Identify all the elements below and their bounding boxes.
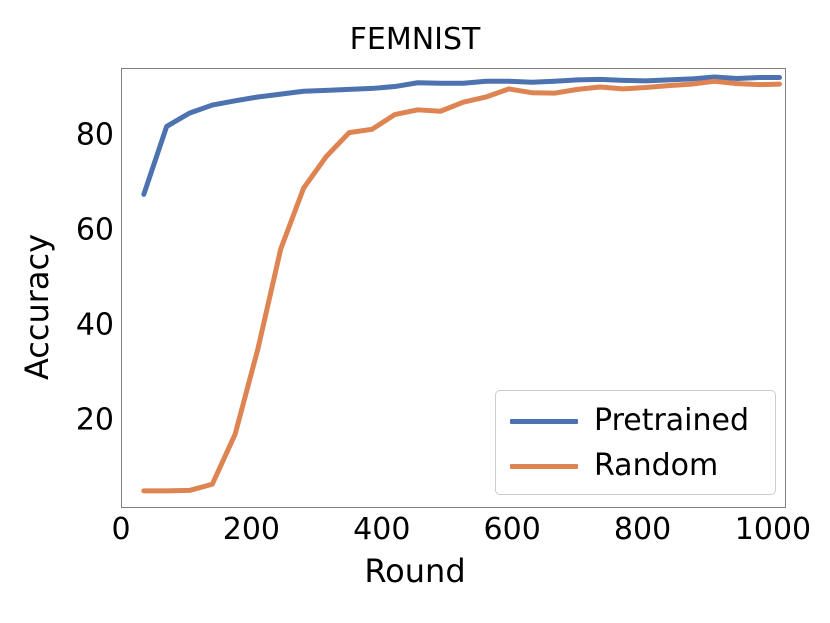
x-tick-label: 800 <box>614 512 671 547</box>
legend-swatch-pretrained <box>510 419 578 424</box>
y-tick-label: 40 <box>2 308 114 343</box>
x-axis-label: Round <box>0 552 830 590</box>
chart-legend: Pretrained Random <box>495 390 776 495</box>
x-tick-label: 200 <box>223 512 280 547</box>
x-tick-label: 0 <box>111 512 130 547</box>
legend-item-random: Random <box>496 443 777 489</box>
legend-swatch-random <box>510 464 578 469</box>
x-tick-label: 1000 <box>735 512 811 547</box>
legend-label-random: Random <box>594 451 718 481</box>
y-tick-label: 60 <box>2 213 114 248</box>
y-tick-label: 80 <box>2 117 114 152</box>
chart-title: FEMNIST <box>0 22 830 57</box>
x-tick-label: 400 <box>353 512 410 547</box>
legend-item-pretrained: Pretrained <box>496 398 777 444</box>
line-series-pretrained <box>144 77 780 194</box>
chart-figure: FEMNIST Accuracy 20406080 02004006008001… <box>0 0 830 623</box>
x-tick-label: 600 <box>484 512 541 547</box>
y-tick-label: 20 <box>2 403 114 438</box>
legend-label-pretrained: Pretrained <box>594 406 749 436</box>
